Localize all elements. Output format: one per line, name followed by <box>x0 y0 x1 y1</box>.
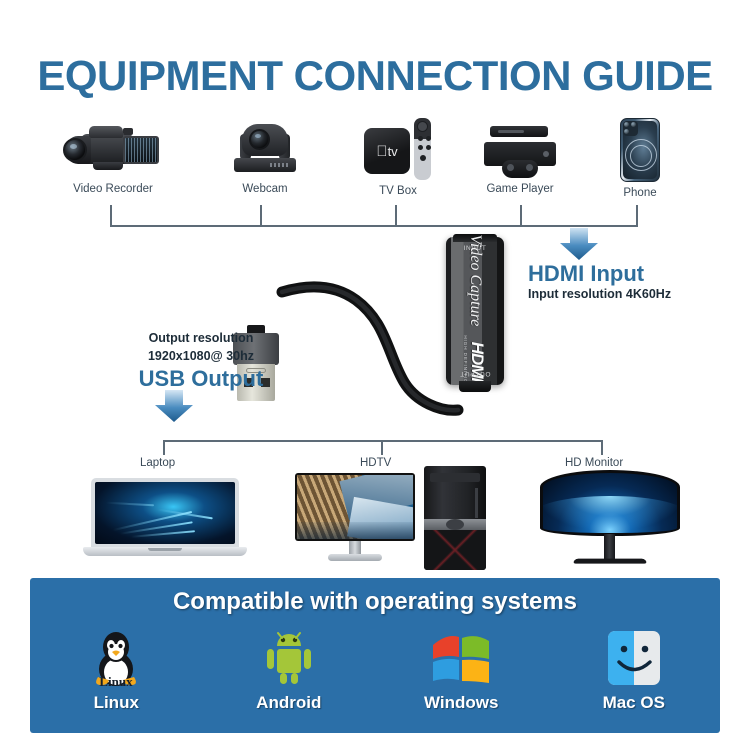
source-label: Game Player <box>478 183 562 195</box>
source-device-tv-box: tv TV Box <box>355 114 441 197</box>
infographic-page: EQUIPMENT CONNECTION GUIDE Video Recorde… <box>0 0 750 750</box>
desktop-tower-icon <box>424 466 486 570</box>
hdmi-input-text-block: HDMI Input Input resolution 4K60Hz <box>528 262 738 301</box>
laptop-icon <box>83 478 247 562</box>
os-item-linux: Linux Linux <box>41 624 191 713</box>
os-label: Linux <box>41 693 191 713</box>
curved-monitor-icon <box>540 470 680 570</box>
destination-bracket <box>163 440 603 456</box>
game-console-icon <box>480 118 560 180</box>
destination-label-laptop: Laptop <box>140 457 175 469</box>
smartphone-icon <box>600 114 680 184</box>
destination-label-hdtv: HDTV <box>360 457 391 469</box>
os-label: Mac OS <box>559 693 709 713</box>
windows-flag-icon <box>386 624 536 692</box>
os-item-android: Android <box>214 624 364 713</box>
source-label: TV Box <box>355 185 441 197</box>
linux-tux-icon: Linux <box>41 624 191 692</box>
os-label: Android <box>214 693 364 713</box>
source-device-video-recorder: Video Recorder <box>58 118 168 195</box>
camcorder-icon <box>63 118 163 180</box>
usb-output-detail-line2: 1920x1080@ 30hz <box>96 347 306 365</box>
usb-output-detail-line1: Output resolution <box>96 329 306 347</box>
source-label: Webcam <box>215 183 315 195</box>
source-bracket <box>110 205 638 227</box>
compatibility-banner: Compatible with operating systems <box>30 578 720 733</box>
usb-output-text-block: Output resolution 1920x1080@ 30hz USB Ou… <box>96 329 306 392</box>
android-robot-icon <box>214 624 364 692</box>
svg-text:Linux: Linux <box>100 674 134 689</box>
os-item-macos: Mac OS <box>559 624 709 713</box>
hdmi-input-arrow-icon <box>558 227 600 263</box>
hdmi-input-detail: Input resolution 4K60Hz <box>528 287 738 301</box>
source-device-webcam: Webcam <box>215 118 315 195</box>
usb-output-arrow-icon <box>153 388 195 424</box>
usb-output-heading: USB Output <box>96 366 306 392</box>
source-device-phone: Phone <box>600 114 680 199</box>
destination-label-hd-monitor: HD Monitor <box>565 457 623 469</box>
hdtv-monitor-icon <box>295 473 415 565</box>
source-label: Phone <box>600 187 680 199</box>
os-item-windows: Windows <box>386 624 536 713</box>
os-label: Windows <box>386 693 536 713</box>
ptz-webcam-icon <box>220 118 310 180</box>
os-icon-row: Linux Linux <box>30 624 720 729</box>
page-title: EQUIPMENT CONNECTION GUIDE <box>0 52 750 100</box>
source-label: Video Recorder <box>58 183 168 195</box>
hdmi-input-heading: HDMI Input <box>528 262 738 285</box>
finder-face-icon <box>559 624 709 692</box>
tv-box-icon: tv <box>358 114 438 182</box>
compatibility-heading: Compatible with operating systems <box>30 588 720 616</box>
source-device-game-player: Game Player <box>478 118 562 195</box>
